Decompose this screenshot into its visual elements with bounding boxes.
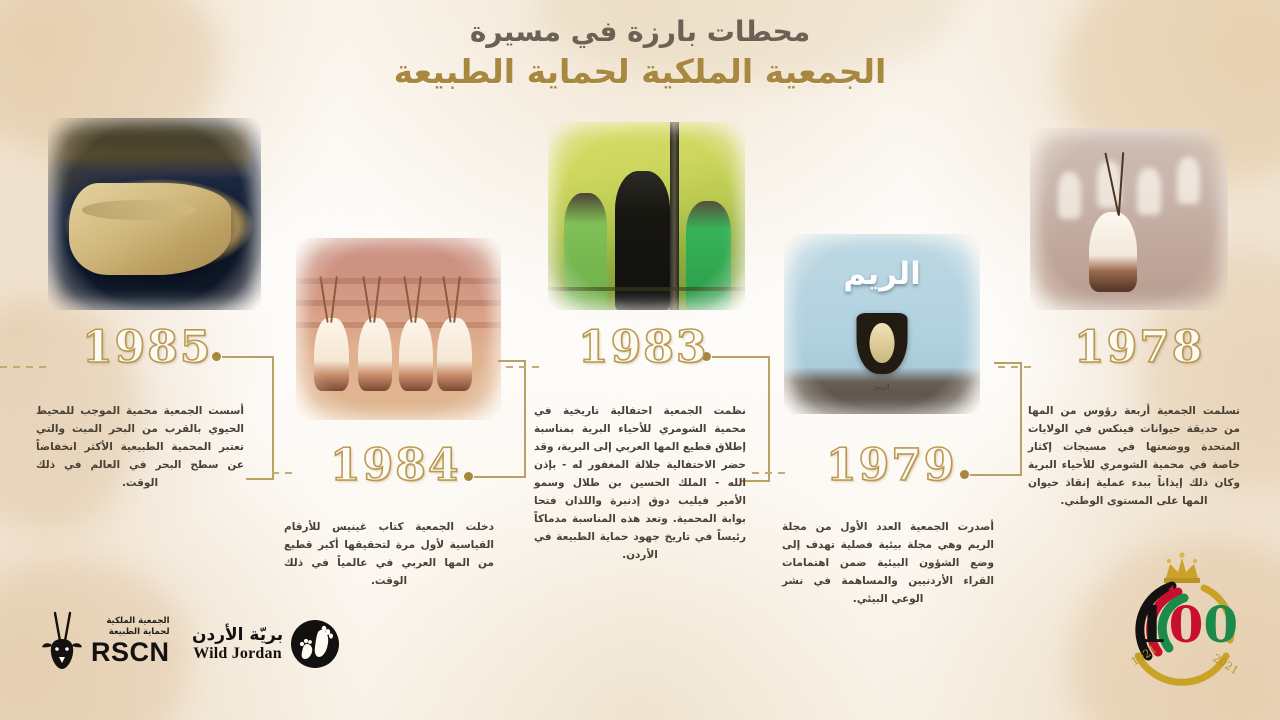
photo-image-magazine: الريم الريم	[784, 234, 980, 414]
photo-detail-peninsula	[69, 183, 231, 275]
connector-dash-1983-left	[506, 366, 542, 368]
photo-detail-person-right	[686, 201, 731, 310]
photo-detail-pole	[670, 122, 679, 310]
photo-detail-dune-band-2	[296, 300, 501, 306]
magazine-caption: الريم	[784, 383, 980, 391]
crown-icon	[1164, 552, 1200, 583]
photo-detail-bg-oryx-1	[1058, 172, 1082, 219]
footprint-paw-glyph	[291, 620, 339, 668]
entry-body-1984: دخلت الجمعية كتاب غينيس للأرقام القياسية…	[284, 518, 494, 590]
connector-dash-1978-left	[998, 366, 1034, 368]
connector-segment-v	[272, 356, 274, 480]
connector-segment-h-top	[498, 360, 526, 362]
connector-segment-v	[768, 356, 770, 482]
connector-dot-1984	[464, 472, 473, 481]
photo-image-single-oryx	[1030, 128, 1228, 310]
infographic-canvas: محطات بارزة في مسيرة الجمعية الملكية لحم…	[0, 0, 1280, 720]
rscn-arabic-line1: الجمعية الملكية	[91, 616, 170, 627]
connector-segment-h-bottom	[970, 474, 1022, 476]
photo-detail-railing	[548, 287, 745, 291]
header-subtitle: محطات بارزة في مسيرة	[0, 14, 1280, 49]
photo-detail-oryx-3	[399, 318, 434, 391]
photo-detail-dune-band-1	[296, 278, 501, 284]
entry-body-1983: نظمت الجمعية احتفالية تاريخية في محمية ا…	[534, 402, 746, 564]
connector-segment-h-bottom	[246, 478, 274, 480]
header-title: الجمعية الملكية لحماية الطبيعة	[0, 51, 1280, 94]
connector-dash-1979-left	[752, 472, 786, 474]
footprint-paw-icon	[291, 620, 339, 668]
centennial-emblem: 100 1921 2021	[1108, 548, 1256, 688]
rscn-text-block: الجمعية الملكية لحماية الطبيعة RSCN	[91, 616, 170, 666]
photo-single-oryx	[1030, 128, 1228, 310]
header: محطات بارزة في مسيرة الجمعية الملكية لحم…	[0, 14, 1280, 94]
entry-body-1979: أصدرت الجمعية العدد الأول من مجلة الريم …	[782, 518, 994, 608]
magazine-emblem-shield	[857, 313, 908, 374]
connector-1979-to-1978	[960, 362, 1022, 476]
connector-segment-h-top	[994, 362, 1022, 364]
year-label-1978: 1978	[1074, 322, 1204, 373]
rscn-acronym: RSCN	[91, 639, 170, 666]
magazine-title: الريم	[784, 256, 980, 292]
photo-detail-foreground-oryx	[1089, 212, 1137, 292]
photo-mujib-biosphere-aerial	[48, 118, 261, 310]
photo-shaumari-release-ceremony	[548, 122, 745, 310]
connector-dash-left-edge	[0, 366, 48, 368]
connector-dot-1979	[960, 470, 969, 479]
photo-image-ceremony	[548, 122, 745, 310]
connector-1984-to-1983	[464, 360, 526, 478]
wild-jordan-arabic: بريّة الأردن	[192, 626, 283, 645]
connector-segment-h-top	[712, 356, 770, 358]
photo-detail-oryx-2	[358, 318, 393, 391]
photo-detail-bg-oryx-4	[1177, 157, 1201, 204]
wild-jordan-english: Wild Jordan	[192, 645, 283, 663]
connector-segment-h-top	[222, 356, 274, 358]
year-label-1979: 1979	[826, 440, 956, 491]
year-label-1984: 1984	[330, 440, 460, 491]
photo-detail-oryx-1	[314, 318, 349, 391]
logo-jordan-centennial: 100 1921 2021	[1108, 548, 1256, 688]
connector-segment-h-bottom	[474, 476, 526, 478]
photo-detail-bg-oryx-3	[1137, 168, 1161, 215]
entry-body-1985: أسست الجمعية محمية الموجب للمحيط الحيوي …	[36, 402, 244, 492]
wild-jordan-text-block: بريّة الأردن Wild Jordan	[192, 626, 283, 662]
photo-al-reem-magazine-cover: الريم الريم	[784, 234, 980, 414]
photo-image-mujib	[48, 118, 261, 310]
photo-detail-person-left	[564, 193, 607, 310]
entry-body-1978: تسلمت الجمعية أربعة رؤوس من المها من حدي…	[1028, 402, 1240, 510]
oryx-head-icon	[40, 611, 84, 671]
connector-segment-v	[524, 360, 526, 478]
logo-wild-jordan: بريّة الأردن Wild Jordan	[192, 616, 352, 672]
year-label-1985: 1985	[82, 322, 212, 373]
photo-detail-shoreline	[57, 126, 253, 176]
connector-dot-1985	[212, 352, 221, 361]
year-label-1983: 1983	[578, 322, 708, 373]
connector-segment-v	[1020, 362, 1022, 476]
logo-rscn: الجمعية الملكية لحماية الطبيعة RSCN	[40, 608, 190, 674]
connector-dash-1984-left	[272, 472, 296, 474]
